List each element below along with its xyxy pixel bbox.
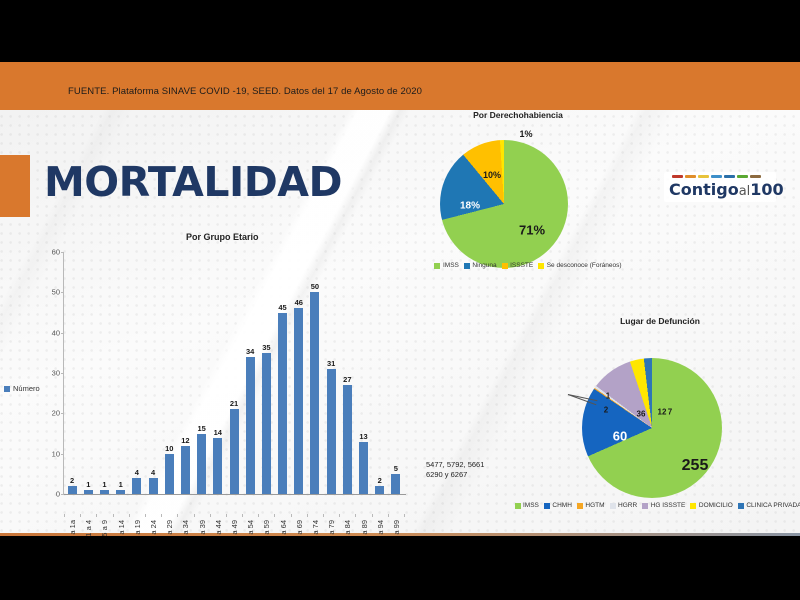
y-tickmark-50 — [61, 292, 64, 293]
legend-item-se-desconoce-for-neos-: Se desconoce (Foráneos) — [538, 262, 621, 269]
bar-value-label: 46 — [295, 298, 303, 307]
x-tickmark-1 — [80, 514, 81, 517]
pie-derechohabiencia-title: Por Derechohabiencia — [473, 110, 563, 120]
legend-swatch — [610, 503, 616, 509]
x-tickmark-12 — [258, 514, 259, 517]
bar-value-label: 1 — [86, 480, 90, 489]
y-axis-tick-0: 0 — [56, 490, 60, 499]
logo-word-contigo: Contigo — [669, 180, 739, 199]
bar-value-label: 12 — [181, 436, 189, 445]
x-tickmark-4 — [129, 514, 130, 517]
x-tickmark-8 — [194, 514, 195, 517]
legend-label: DOMICILIO — [699, 502, 733, 509]
x-tickmark-3 — [113, 514, 114, 517]
x-tickmark-20 — [388, 514, 389, 517]
legend-item-ninguna: Ninguna — [464, 262, 497, 269]
bar-value-label: 1 — [102, 480, 106, 489]
bar-3: 1 — [116, 490, 125, 494]
legend-swatch — [538, 263, 544, 269]
bar-value-label: 50 — [311, 282, 319, 291]
legend-label: HGRR — [618, 502, 637, 509]
pie-slice-label-imss: 255 — [682, 457, 709, 475]
legend-item-domicilio: DOMICILIO — [690, 502, 732, 509]
x-tickmark-6 — [161, 514, 162, 517]
pie-chart-derechohabiencia: Por Derechohabiencia IMSSNingunaISSSTESe… — [398, 110, 638, 290]
legend-swatch — [642, 503, 648, 509]
y-axis-tick-10: 10 — [52, 449, 60, 458]
logo-dash-4 — [724, 175, 735, 178]
bar-17: 27 — [343, 385, 352, 494]
legend-item-imss: IMSS — [515, 502, 539, 509]
bar-value-label: 14 — [214, 428, 222, 437]
bar-18: 13 — [359, 442, 368, 494]
legend-swatch — [738, 503, 744, 509]
bar-value-label: 2 — [70, 476, 74, 485]
logo-word-100: 100 — [750, 180, 783, 199]
bar-8: 15 — [197, 434, 206, 495]
page-title: MORTALIDAD — [44, 158, 342, 206]
bar-6: 10 — [165, 454, 174, 494]
bar-10: 21 — [230, 409, 239, 494]
letterbox-top — [0, 0, 800, 62]
letterbox-bottom — [0, 536, 800, 600]
slide-stage: FUENTE. Plataforma SINAVE COVID -19, SEE… — [0, 0, 800, 600]
bar-9: 14 — [213, 438, 222, 494]
legend-item-issste: ISSSTE — [502, 262, 534, 269]
bar-value-label: 45 — [278, 303, 286, 312]
pie-derechohabiencia-legend: IMSSNingunaISSSTESe desconoce (Foráneos) — [398, 262, 658, 269]
x-tickmark-14 — [291, 514, 292, 517]
x-tickmark-9 — [210, 514, 211, 517]
pie-lugar-graphic — [582, 358, 722, 498]
x-tickmark-15 — [307, 514, 308, 517]
legend-item-chmh: CHMH — [544, 502, 572, 509]
pie-slice-label-domicilio: 12 — [658, 408, 667, 417]
x-tickmark-17 — [339, 514, 340, 517]
x-axis-label-1: 1 a 4 — [84, 520, 93, 537]
y-tickmark-10 — [61, 454, 64, 455]
bar-20: 5 — [391, 474, 400, 494]
y-axis-tick-50: 50 — [52, 288, 60, 297]
logo-dash-0 — [672, 175, 683, 178]
bar-14: 46 — [294, 308, 303, 494]
title-accent-block — [0, 155, 30, 217]
legend-item-hgrr: HGRR — [610, 502, 638, 509]
legend-swatch — [544, 503, 550, 509]
bar-value-label: 21 — [230, 399, 238, 408]
x-tickmark-11 — [242, 514, 243, 517]
pie-slice-label-se-desconoce-for-neos-: 1% — [519, 129, 532, 139]
pie-slice-label-hgtm: 1 — [606, 392, 610, 401]
logo-dash-6 — [750, 175, 761, 178]
logo-dash-3 — [711, 175, 722, 178]
bar-value-label: 4 — [135, 468, 139, 477]
x-tickmark-7 — [177, 514, 178, 517]
bar-chart-annotation: 5477, 5792, 56616290 y 6267 — [426, 460, 484, 480]
bar-1: 1 — [84, 490, 93, 494]
pie-slice-label-hgrr: 2 — [604, 406, 608, 415]
legend-label: HGTM — [585, 502, 604, 509]
legend-item-hg-issste: HG ISSSTE — [642, 502, 685, 509]
x-tickmark-13 — [274, 514, 275, 517]
legend-swatch — [464, 263, 470, 269]
bar-value-label: 2 — [378, 476, 382, 485]
bar-19: 2 — [375, 486, 384, 494]
logo-dash-5 — [737, 175, 748, 178]
pie-lugar-title: Lugar de Defunción — [620, 316, 700, 326]
contigo-al-100-logo: Contigoal100 — [664, 172, 776, 202]
bar-value-label: 10 — [165, 444, 173, 453]
pie-chart-lugar-defuncion: Lugar de Defunción IMSSCHMHHGTMHGRRHG IS… — [520, 316, 800, 516]
pie-slice-label-imss: 71% — [519, 223, 545, 238]
bar-11: 34 — [246, 357, 255, 494]
legend-label: IMSS — [443, 262, 459, 269]
annotation-line: 5477, 5792, 5661 — [426, 460, 484, 470]
bar-2: 1 — [100, 490, 109, 494]
x-tickmark-5 — [145, 514, 146, 517]
bar-value-label: 13 — [359, 432, 367, 441]
pie-slice-label-clinica-privada: 7 — [668, 408, 672, 417]
bar-12: 35 — [262, 353, 271, 494]
x-tickmark-end — [404, 514, 405, 517]
legend-label: ISSSTE — [510, 262, 533, 269]
pie-slice-label-chmh: 60 — [613, 429, 627, 444]
logo-word-al: al — [739, 184, 751, 199]
logo-dash-1 — [685, 175, 696, 178]
y-tickmark-40 — [61, 333, 64, 334]
x-tickmark-19 — [372, 514, 373, 517]
source-text: FUENTE. Plataforma SINAVE COVID -19, SEE… — [68, 86, 422, 97]
legend-item-imss: IMSS — [434, 262, 458, 269]
bar-chart-x-axis — [63, 494, 406, 495]
legend-label-numero: Número — [13, 384, 40, 393]
legend-item-hgtm: HGTM — [577, 502, 605, 509]
legend-swatch-numero — [4, 386, 10, 392]
bar-value-label: 27 — [343, 375, 351, 384]
legend-label: CHMH — [552, 502, 572, 509]
y-tickmark-0 — [61, 494, 64, 495]
x-tickmark-2 — [96, 514, 97, 517]
pie-slice-label-issste: 10% — [483, 170, 501, 180]
y-axis-tick-20: 20 — [52, 409, 60, 418]
pie-lugar-legend: IMSSCHMHHGTMHGRRHG ISSSTEDOMICILIOCLINIC… — [458, 502, 800, 509]
x-tickmark-0 — [64, 514, 65, 517]
logo-text: Contigoal100 — [669, 180, 784, 199]
pie-slice-label-hg-issste: 36 — [637, 410, 646, 419]
legend-item-clinica-privada: CLINICA PRIVADA — [738, 502, 800, 509]
legend-swatch — [577, 503, 583, 509]
logo-dashes — [672, 175, 761, 178]
bar-0: 2 — [68, 486, 77, 494]
bar-value-label: 4 — [151, 468, 155, 477]
bar-value-label: 15 — [197, 424, 205, 433]
bar-4: 4 — [132, 478, 141, 494]
y-axis-tick-60: 60 — [52, 248, 60, 257]
bar-5: 4 — [149, 478, 158, 494]
legend-label: Se desconoce (Foráneos) — [547, 262, 622, 269]
legend-label: HG ISSSTE — [651, 502, 686, 509]
y-tickmark-30 — [61, 373, 64, 374]
legend-label: IMSS — [523, 502, 539, 509]
x-tickmark-10 — [226, 514, 227, 517]
legend-label: Ninguna — [472, 262, 496, 269]
legend-swatch — [434, 263, 440, 269]
bar-16: 31 — [327, 369, 336, 494]
pie-slice-label-ninguna: 18% — [460, 201, 480, 212]
legend-label: CLINICA PRIVADA — [746, 502, 800, 509]
bar-chart-plot-area: 01020304050602< a 1a11 a 415 a 9110 a 14… — [64, 252, 404, 494]
legend-swatch — [502, 263, 508, 269]
annotation-line: 6290 y 6267 — [426, 470, 484, 480]
bar-13: 45 — [278, 313, 287, 495]
bar-value-label: 1 — [119, 480, 123, 489]
bar-value-label: 34 — [246, 347, 254, 356]
legend-swatch — [515, 503, 521, 509]
bar-15: 50 — [310, 292, 319, 494]
y-axis-tick-30: 30 — [52, 369, 60, 378]
y-axis-tick-40: 40 — [52, 328, 60, 337]
bar-chart-title: Por Grupo Etario — [186, 232, 259, 242]
logo-dash-2 — [698, 175, 709, 178]
bar-7: 12 — [181, 446, 190, 494]
x-axis-label-2: 5 a 9 — [100, 520, 109, 537]
x-tickmark-18 — [355, 514, 356, 517]
y-tickmark-20 — [61, 413, 64, 414]
bar-value-label: 31 — [327, 359, 335, 368]
bar-value-label: 35 — [262, 343, 270, 352]
bar-chart-legend: Número — [4, 384, 40, 393]
x-tickmark-16 — [323, 514, 324, 517]
y-tickmark-60 — [61, 252, 64, 253]
legend-swatch — [690, 503, 696, 509]
bar-value-label: 5 — [394, 464, 398, 473]
